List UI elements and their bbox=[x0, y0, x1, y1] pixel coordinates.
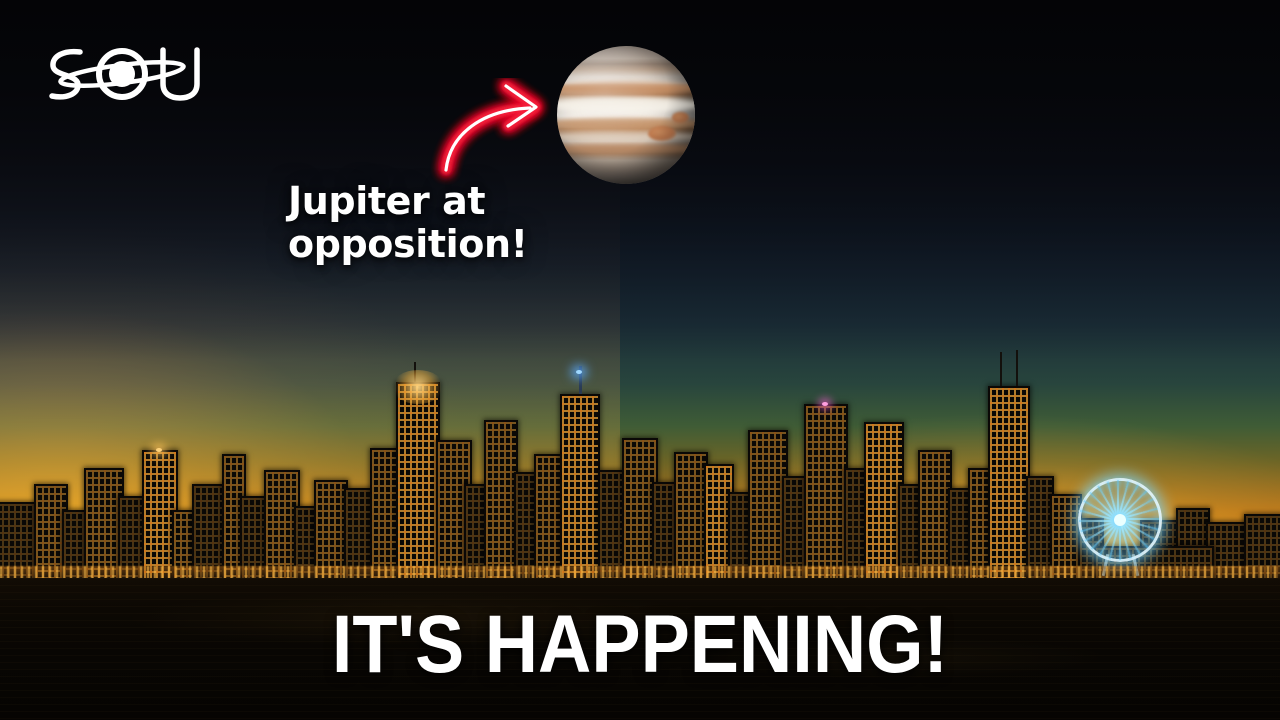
navy-pier-ferris-wheel bbox=[1078, 478, 1162, 562]
rooftop-light bbox=[156, 448, 162, 452]
curved-arrow-to-jupiter bbox=[424, 78, 574, 188]
building-willis-tower bbox=[396, 382, 440, 580]
building-trump-tower bbox=[560, 394, 600, 580]
jupiter-limb-shading bbox=[557, 46, 695, 184]
thumbnail-canvas: Jupiter at opposition! IT'S HAPPENING! bbox=[0, 0, 1280, 720]
building-aon-center bbox=[804, 404, 848, 580]
building-john-hancock-center bbox=[988, 386, 1030, 580]
hancock-antenna-right bbox=[1016, 350, 1018, 386]
building bbox=[918, 450, 952, 580]
building bbox=[674, 452, 708, 580]
hancock-antenna-left bbox=[1000, 352, 1002, 386]
callout-line-2: opposition! bbox=[288, 223, 588, 266]
jupiter-planet bbox=[557, 46, 695, 184]
headline-text: IT'S HAPPENING! bbox=[64, 604, 1216, 686]
callout-text: Jupiter at opposition! bbox=[288, 180, 588, 265]
ferris-wheel-hub bbox=[1114, 514, 1126, 526]
rooftop-light-magenta bbox=[822, 402, 828, 406]
callout-line-1: Jupiter at bbox=[288, 179, 485, 223]
building bbox=[484, 420, 518, 580]
rooftop-light-blue bbox=[576, 370, 582, 374]
sou-logo[interactable] bbox=[36, 36, 206, 110]
building bbox=[314, 480, 348, 580]
willis-crown-glow bbox=[392, 370, 444, 404]
